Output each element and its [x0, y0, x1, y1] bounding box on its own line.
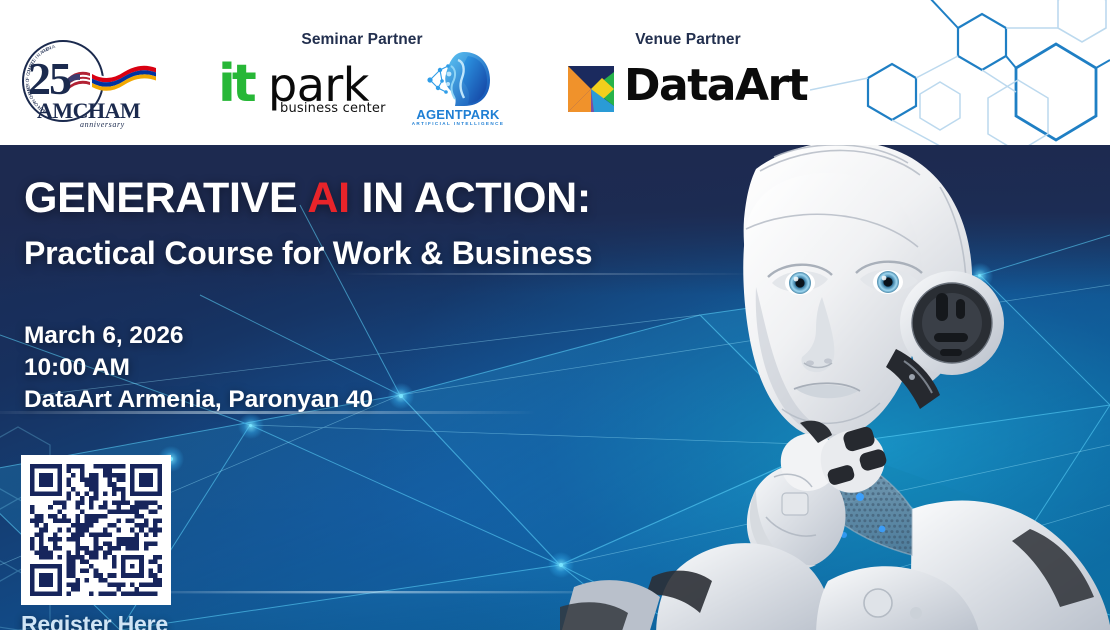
- itpark-logo: it park business center: [218, 60, 388, 116]
- qr-code-image[interactable]: [30, 464, 162, 596]
- agentpark-tagline: ARTIFICIAL INTELLIGENCE: [406, 121, 510, 126]
- glow-node: [249, 424, 252, 427]
- itpark-tagline: business center: [280, 101, 386, 116]
- amcham-anniversary-word: anniversary: [80, 120, 125, 129]
- event-banner: AMERICAN CHAMBER OF COMMERCE IN ARMENIA …: [0, 0, 1110, 630]
- event-time: 10:00 AM: [24, 352, 373, 384]
- hero-section: GENERATIVE AI IN ACTION: Practical Cours…: [0, 145, 1110, 630]
- dataart-mark-icon: [568, 66, 614, 112]
- headline-accent: AI: [307, 174, 349, 222]
- dataart-name: DataArt: [624, 58, 807, 114]
- event-date: March 6, 2026: [24, 320, 373, 352]
- agentpark-head-icon: [424, 50, 492, 108]
- subheadline: Practical Course for Work & Business: [24, 233, 592, 273]
- event-location: DataArt Armenia, Paronyan 40: [24, 384, 373, 416]
- itpark-name-accent: it: [218, 58, 253, 110]
- agentpark-logo: AGENTPARK ARTIFICIAL INTELLIGENCE: [406, 50, 510, 134]
- register-here-label[interactable]: Register Here: [21, 611, 168, 630]
- amcham-logo: AMERICAN CHAMBER OF COMMERCE IN ARMENIA …: [8, 36, 158, 136]
- headline: GENERATIVE AI IN ACTION:: [24, 173, 591, 223]
- dataart-logo: DataArt: [568, 62, 808, 116]
- glow-node: [399, 394, 403, 398]
- headline-pre: GENERATIVE: [24, 174, 307, 222]
- robot-illustration: [560, 145, 1110, 630]
- headline-post: IN ACTION:: [350, 174, 591, 222]
- seminar-partner-label: Seminar Partner: [252, 31, 472, 49]
- event-details: March 6, 2026 10:00 AM DataArt Armenia, …: [24, 320, 373, 416]
- agentpark-name: AGENTPARK: [406, 107, 510, 122]
- venue-partner-label: Venue Partner: [578, 31, 798, 49]
- partner-bar: AMERICAN CHAMBER OF COMMERCE IN ARMENIA …: [0, 0, 1110, 145]
- amcham-anniversary-number: 25: [28, 56, 70, 102]
- amcham-flags-icon: [66, 58, 158, 102]
- qr-code[interactable]: [21, 455, 171, 605]
- hexagon-decoration: [810, 0, 1110, 145]
